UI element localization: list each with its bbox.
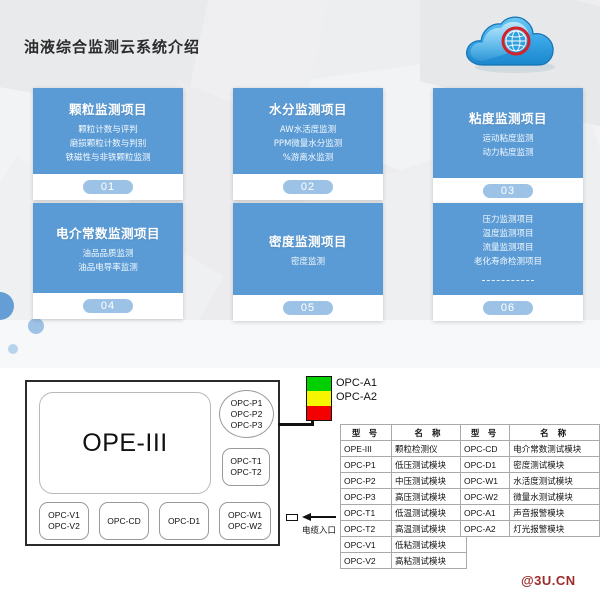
divider (482, 280, 534, 282)
spec-table-left: 型 号 名 称 OPE-III 颗粒检测仪 OPC-P1 低压测试模块 OPC-… (340, 424, 467, 569)
card-title: 密度监测项目 (237, 231, 379, 250)
table-row: OPE-III 颗粒检测仪 (341, 441, 467, 457)
card-body: 水分监测项目 AW水活度监测 PPM微量水分监测 %游离水监测 (233, 88, 383, 174)
module-pressure: OPC-P1 OPC-P2 OPC-P3 (219, 390, 274, 438)
info-card-01[interactable]: 颗粒监测项目 颗粒计数与评判 磨损颗粒计数与判别 铁磁性与非铁颗粒监测 01 (33, 88, 183, 200)
cable-plug-icon (286, 514, 298, 521)
card-line: %游离水监测 (237, 151, 379, 165)
table-header-row: 型 号 名 称 (461, 425, 600, 441)
alarm-stack-light-icon (306, 376, 332, 421)
cell-name: 高温测试模块 (392, 521, 467, 537)
cell-name: 低压测试模块 (392, 457, 467, 473)
card-line: 油品电导率监测 (37, 261, 179, 275)
card-line: 压力监测项目 (437, 213, 579, 227)
table-row: OPC-V1 低粘测试模块 (341, 537, 467, 553)
module-density: OPC-D1 (159, 502, 209, 540)
cell-model: OPC-W2 (461, 489, 510, 505)
card-number-badge: 06 (483, 301, 533, 315)
card-line: 老化寿命检测项目 (437, 255, 579, 269)
card-footer: 04 (33, 293, 183, 319)
module-water: OPC-W1 OPC-W2 (219, 502, 271, 540)
card-footer: 01 (33, 174, 183, 200)
card-title: 粘度监测项目 (437, 108, 579, 127)
module-line: OPC-T1 (230, 456, 261, 467)
column-header-model: 型 号 (461, 425, 510, 441)
module-line: OPC-V2 (48, 521, 80, 532)
module-line: OPC-P2 (231, 409, 263, 420)
cell-model: OPC-A1 (461, 505, 510, 521)
alarm-wire-horizontal (278, 423, 314, 426)
table-row: OPC-P1 低压测试模块 (341, 457, 467, 473)
card-number-badge: 01 (83, 180, 133, 194)
module-line: OPC-P1 (231, 398, 263, 409)
module-dielectric: OPC-CD (99, 502, 149, 540)
bg-facet (0, 320, 600, 368)
module-line: OPC-T2 (230, 467, 261, 478)
card-footer: 03 (433, 178, 583, 204)
card-title: 水分监测项目 (237, 99, 379, 118)
device-enclosure: OPE-III OPC-P1 OPC-P2 OPC-P3 OPC-T1 OPC-… (25, 380, 280, 546)
module-line: OPC-W1 (228, 510, 262, 521)
card-body: 压力监测项目 温度监测项目 流量监测项目 老化寿命检测项目 (433, 203, 583, 295)
cell-model: OPC-CD (461, 441, 510, 457)
cell-model: OPE-III (341, 441, 392, 457)
table-row: OPC-D1 密度测试模块 (461, 457, 600, 473)
cell-model: OPC-W1 (461, 473, 510, 489)
light-red (307, 406, 331, 420)
card-line: 流量监测项目 (437, 241, 579, 255)
cell-name: 电介常数测试模块 (510, 441, 600, 457)
column-header-name: 名 称 (392, 425, 467, 441)
light-yellow (307, 391, 331, 405)
module-temperature: OPC-T1 OPC-T2 (222, 448, 270, 486)
cell-model: OPC-P2 (341, 473, 392, 489)
light-green (307, 377, 331, 391)
table-row: OPC-W1 水活度测试模块 (461, 473, 600, 489)
cell-name: 灯光报警模块 (510, 521, 600, 537)
info-card-04[interactable]: 电介常数监测项目 油品品质监测 油品电导率监测 04 (33, 203, 183, 319)
module-line: OPC-P3 (231, 420, 263, 431)
alarm-labels: OPC-A1 OPC-A2 (336, 376, 377, 404)
cell-name: 高粘测试模块 (392, 553, 467, 569)
card-footer: 02 (233, 174, 383, 200)
card-line: 磨损颗粒计数与判别 (37, 137, 179, 151)
page-title: 油液综合监测云系统介绍 (24, 36, 200, 57)
card-footer: 06 (433, 295, 583, 321)
cell-model: OPC-T2 (341, 521, 392, 537)
card-title: 电介常数监测项目 (37, 223, 179, 242)
cell-model: OPC-T1 (341, 505, 392, 521)
card-line: 温度监测项目 (437, 227, 579, 241)
info-card-06[interactable]: 压力监测项目 温度监测项目 流量监测项目 老化寿命检测项目 06 (433, 203, 583, 321)
card-line: 油品品质监测 (37, 247, 179, 261)
table-header-row: 型 号 名 称 (341, 425, 467, 441)
module-line: OPC-CD (107, 516, 141, 527)
card-body: 电介常数监测项目 油品品质监测 油品电导率监测 (33, 203, 183, 293)
table-row: OPC-P3 高压测试模块 (341, 489, 467, 505)
cell-name: 高压测试模块 (392, 489, 467, 505)
card-line: 动力粘度监测 (437, 146, 579, 160)
card-line: 铁磁性与非铁颗粒监测 (37, 151, 179, 165)
info-card-02[interactable]: 水分监测项目 AW水活度监测 PPM微量水分监测 %游离水监测 02 (233, 88, 383, 200)
card-number-badge: 04 (83, 299, 133, 313)
table-row: OPC-T2 高温测试模块 (341, 521, 467, 537)
cell-model: OPC-D1 (461, 457, 510, 473)
card-number-badge: 02 (283, 180, 333, 194)
cell-name: 声音报警模块 (510, 505, 600, 521)
card-line: 运动粘度监测 (437, 132, 579, 146)
module-line: OPC-V1 (48, 510, 80, 521)
watermark: @3U.CN (521, 573, 576, 588)
cell-name: 中压测试模块 (392, 473, 467, 489)
card-number-badge: 03 (483, 184, 533, 198)
cell-model: OPC-V1 (341, 537, 392, 553)
decorative-dot (8, 344, 18, 354)
alarm-label: OPC-A2 (336, 390, 377, 404)
card-line: 颗粒计数与评判 (37, 123, 179, 137)
cell-model: OPC-P3 (341, 489, 392, 505)
card-footer: 05 (233, 295, 383, 321)
alarm-label: OPC-A1 (336, 376, 377, 390)
cell-name: 低粘测试模块 (392, 537, 467, 553)
card-title: 颗粒监测项目 (37, 99, 179, 118)
cell-model: OPC-P1 (341, 457, 392, 473)
info-card-03[interactable]: 粘度监测项目 运动粘度监测 动力粘度监测 03 (433, 88, 583, 204)
table-row: OPC-V2 高粘测试模块 (341, 553, 467, 569)
table-row: OPC-P2 中压测试模块 (341, 473, 467, 489)
column-header-name: 名 称 (510, 425, 600, 441)
table-row: OPC-A2 灯光报警模块 (461, 521, 600, 537)
card-body: 颗粒监测项目 颗粒计数与评判 磨损颗粒计数与判别 铁磁性与非铁颗粒监测 (33, 88, 183, 174)
device-model-label: OPE-III (82, 429, 167, 458)
card-line: AW水活度监测 (237, 123, 379, 137)
info-card-05[interactable]: 密度监测项目 密度监测 05 (233, 203, 383, 321)
cloud-globe-icon (455, 8, 575, 78)
cell-name: 微量水测试模块 (510, 489, 600, 505)
cell-model: OPC-A2 (461, 521, 510, 537)
column-header-model: 型 号 (341, 425, 392, 441)
cell-name: 密度测试模块 (510, 457, 600, 473)
card-body: 粘度监测项目 运动粘度监测 动力粘度监测 (433, 88, 583, 178)
cell-name: 低温测试模块 (392, 505, 467, 521)
cell-name: 颗粒检测仪 (392, 441, 467, 457)
module-viscosity: OPC-V1 OPC-V2 (39, 502, 89, 540)
card-body: 密度监测项目 密度监测 (233, 203, 383, 295)
table-row: OPC-CD 电介常数测试模块 (461, 441, 600, 457)
table-row: OPC-A1 声音报警模块 (461, 505, 600, 521)
module-line: OPC-W2 (228, 521, 262, 532)
arrow-left-icon (302, 512, 336, 522)
cell-name: 水活度测试模块 (510, 473, 600, 489)
table-row: OPC-W2 微量水测试模块 (461, 489, 600, 505)
spec-table-right: 型 号 名 称 OPC-CD 电介常数测试模块 OPC-D1 密度测试模块 OP… (460, 424, 600, 537)
card-line: 密度监测 (237, 255, 379, 269)
device-screen: OPE-III (39, 392, 211, 494)
cell-model: OPC-V2 (341, 553, 392, 569)
decorative-dot (28, 318, 44, 334)
module-line: OPC-D1 (168, 516, 200, 527)
card-number-badge: 05 (283, 301, 333, 315)
card-line: PPM微量水分监测 (237, 137, 379, 151)
table-row: OPC-T1 低温测试模块 (341, 505, 467, 521)
